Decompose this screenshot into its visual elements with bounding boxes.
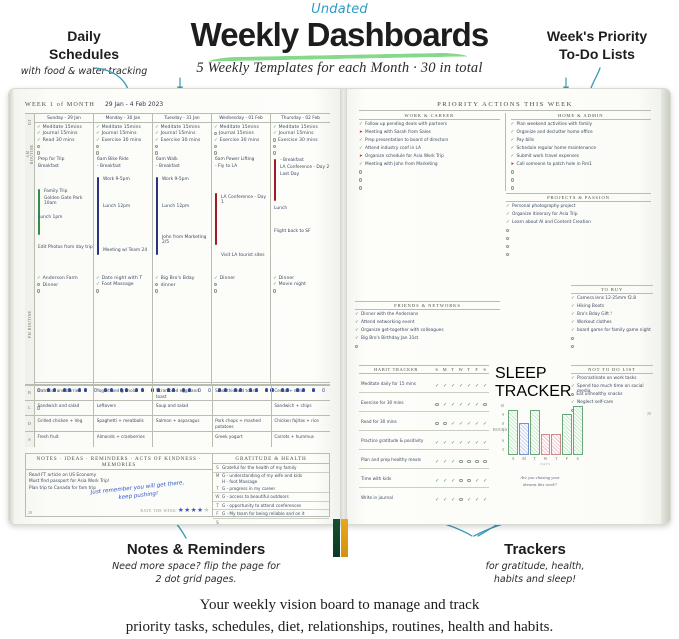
star-rating[interactable]: ★★★★★ [178,507,210,514]
water-tracker-row[interactable] [25,378,330,385]
habit-cell[interactable]: ✓ [449,450,457,468]
callout-priority-line1: Week's Priority [547,28,647,44]
meal-cell[interactable]: Salmon + asparagus [153,416,212,431]
morning-routine-list[interactable]: ✓Meditate 15mins ✓Journal 15mins ✓Read 3… [35,123,93,157]
gratitude-row: TG - progress in my career [213,485,329,494]
event-bar-red [215,193,217,245]
habit-cell[interactable] [473,450,481,468]
event-bar-navy [97,177,99,255]
check-icon: ✓ [451,498,455,503]
schedule-entry: Edit Photos from day trip [38,245,93,250]
habit-cell[interactable]: ✓ [441,374,449,392]
habit-cell[interactable]: ✓ [441,431,449,449]
check-icon: ✓ [214,276,218,280]
table-row: Write in journal ✓ ✓ ✓ ✓ ✓ ✓ [359,488,489,506]
bar-wrapper [519,406,530,455]
habit-cell[interactable] [457,450,465,468]
checkbox[interactable] [96,151,99,154]
meal-cell[interactable]: Soup and salad [153,401,212,416]
bar-wrapper [540,406,551,455]
schedule-entry: LA Conference - Day 1 [221,195,270,205]
checkbox[interactable] [571,345,574,348]
habit-day-header: S [433,366,441,373]
check-icon: ✓ [435,441,439,446]
gratitude-text: H - foot Massage [222,479,329,484]
routine-label: Dinner [220,276,236,283]
gratitude-text: G - understanding of my wife and kids [222,473,329,478]
check-icon: ✓ [96,131,100,135]
week-dates[interactable]: 29 Jan - 4 Feb 2023 [105,101,163,108]
habit-cell[interactable]: ✓ [449,469,457,487]
day-column-sunday[interactable]: Sunday - 29 Jan ✓Meditate 15mins ✓Journa… [35,114,94,384]
meal-cell[interactable]: Sandwich and salad [35,401,94,416]
meal-cell[interactable]: Scrambled eggs and toast [153,386,212,400]
checkbox[interactable] [155,283,158,286]
habit-cell[interactable] [457,469,465,487]
evening-routine-list[interactable]: ✓Dinner [212,275,270,296]
meals-table[interactable]: B Oatmeal and berries Yogurt and granola… [25,385,330,447]
list-item-label: Big Bro's Birthday Jan 31st [361,336,418,341]
meal-cell[interactable]: Chicken fajitas + rice [272,416,330,431]
meal-cell[interactable]: Spaghetti + meatballs [94,416,153,431]
routine-item [214,289,268,295]
checkbox[interactable] [214,151,217,154]
meal-cell[interactable]: Yogurt and granola [94,386,153,400]
x-tick: F [562,457,573,461]
check-icon[interactable]: ✓ [359,138,363,142]
habit-cell[interactable]: ✓ [457,431,465,449]
check-icon: ✓ [443,498,447,503]
checkbox[interactable] [506,245,509,248]
schedule-entry: Lunch [274,206,287,211]
gratitude-text: G - opportunity to attend conferences [222,503,329,508]
evening-routine-list[interactable]: ✓Date night with T ✓Foot Massage [94,275,152,296]
callout-daily-line2: Schedules [49,46,119,62]
routine-label: Read 30 mins [43,138,75,145]
check-icon[interactable]: ✓ [506,212,510,216]
meal-cell[interactable]: Cereal + milk [272,386,330,400]
check-icon: ✓ [443,441,447,446]
check-icon[interactable]: ✓ [506,204,510,208]
habit-tracker[interactable]: HABIT TRACKER S M T W T F S Meditate dai… [359,365,489,506]
check-icon: ✓ [467,441,471,446]
habit-day-header: M [441,366,449,373]
check-icon[interactable]: ✓ [571,296,575,300]
check-icon[interactable]: ✓ [359,162,363,166]
habit-day-header: F [473,366,481,373]
habit-tracker-title: HABIT TRACKER [359,366,433,373]
day-header: Wednesday - 01 Feb [212,114,270,123]
to-buy-section[interactable]: TO BUY ✓Camera lens 12-25mm f2.8 ✓Hiking… [571,285,653,350]
habit-cell[interactable]: ✓ [457,412,465,430]
habit-cell[interactable]: ✓ [481,374,489,392]
habit-cell[interactable]: ✓ [465,431,473,449]
home-admin-column[interactable]: HOME & ADMIN ✓Plan weekend activities wi… [506,113,652,191]
list-item-label: Hiking Boots [577,304,604,309]
checkbox[interactable] [359,170,362,173]
moved-arrow-icon[interactable]: ➤ [511,162,515,166]
gratitude-health-section[interactable]: GRATITUDE & HEALTH SGrateful for the hea… [213,453,330,517]
habit-cell[interactable]: ✓ [473,469,481,487]
check-icon[interactable]: ✓ [355,312,359,316]
check-icon[interactable]: ✓ [571,312,575,316]
sleep-tracker-title: SLEEP TRACKER [495,365,585,401]
day-schedule[interactable]: 6am Power Lifting - Fly to LA LA Confere… [212,157,270,275]
checkbox[interactable] [96,289,99,292]
meal-cell[interactable]: Almonds + cranberries [94,432,153,448]
checkbox [459,460,462,463]
check-icon: ✓ [459,441,463,446]
day-column-wednesday[interactable]: Wednesday - 01 Feb ✓Meditate 15mins Jour… [212,114,271,384]
list-item-label: Camera lens 12-25mm f2.8 [577,296,636,301]
schedule-entry: Lunch 12pm [162,204,189,209]
meal-cell[interactable]: Greek yogurt [213,432,272,448]
check-icon: ✓ [459,384,463,389]
checkbox[interactable] [359,186,362,189]
meal-cell[interactable]: Sandwich + chips [272,401,330,416]
meal-cell[interactable]: Smoothie and toast [213,386,272,400]
morning-routine-list[interactable]: ✓Meditate 15mins ✓Journal 15mins ✓Exerci… [153,123,211,157]
friends-networks-section[interactable]: FRIENDS & NETWORKS ✓Dinner with the Ande… [355,301,500,350]
habit-label: Meditate daily for 15 mins [359,380,433,388]
schedule-entry: 6am Bike Ride [97,157,129,162]
list-item [506,242,651,250]
check-icon: ✓ [483,422,487,427]
checkbox[interactable] [511,178,514,181]
meal-cell[interactable]: Grilled chicken + Veg [35,416,94,431]
check-icon: ✓ [475,498,479,503]
routine-label: Exercise 30 mins [161,138,201,145]
planner-spread: WEEK 1 of MONTH 29 Jan - 4 Feb 2023 DT A… [8,88,671,525]
check-icon: ✓ [96,138,100,142]
check-icon: ✓ [155,125,159,129]
checkbox[interactable] [37,145,40,148]
habit-cell[interactable]: ✓ [481,412,489,430]
table-row: S Fresh fruit Almonds + cranberries Gree… [25,432,330,448]
bar-thursday [551,434,561,455]
checkbox[interactable] [571,337,574,340]
check-icon[interactable]: ✓ [359,122,363,126]
check-icon[interactable]: ✓ [506,220,510,224]
list-item [355,342,500,350]
table-row: Plan and prep healthy meals ✓ ✓ ✓ [359,450,489,469]
checkbox[interactable] [506,253,509,256]
meal-cell[interactable]: Pork chops + mashed potatoes [213,416,272,431]
right-page-number: 29 [647,411,651,416]
day-header: Sunday - 29 Jan [35,114,93,123]
day-grid-gutter: DT AM ROUTINE PM ROUTINE [25,114,35,384]
list-item: ✓Bro's Bday Gift ! [571,310,653,318]
check-icon: ✓ [155,276,159,280]
star-empty-icon[interactable]: ★ [204,507,210,514]
check-icon[interactable]: ✓ [355,320,359,324]
meal-label: S [25,432,35,448]
x-tick: S [508,457,519,461]
check-icon: ✓ [214,125,218,129]
checkbox[interactable] [96,145,99,148]
check-icon: ✓ [467,498,471,503]
habit-cell[interactable]: ✓ [433,374,441,392]
evening-routine-list[interactable]: ✓Big Bro's Bday dinner [153,275,211,296]
check-icon: ✓ [475,441,479,446]
checkbox[interactable] [511,170,514,173]
habit-cell[interactable]: ✓ [457,393,465,411]
routine-item [155,289,209,295]
habit-cell[interactable]: ✓ [481,431,489,449]
check-icon[interactable]: ✓ [355,336,359,340]
sleep-tracker[interactable]: SLEEP TRACKER 10 9 8 7 6 5 HOURS [495,365,585,489]
schedule-entry: - Breakfast [97,164,121,169]
check-icon: ✓ [37,138,41,142]
check-icon[interactable]: ✓ [571,328,575,332]
check-icon: ✓ [435,460,439,465]
habit-cell[interactable] [441,412,449,430]
y-tick: 8 [502,422,504,426]
check-icon[interactable]: ✓ [511,146,515,150]
check-icon[interactable]: ✓ [511,138,515,142]
check-icon: ✓ [443,403,447,408]
checkbox [459,479,462,482]
callout-daily-note: with food & water tracking [14,66,154,78]
check-icon: ✓ [443,479,447,484]
day-initial: F [213,511,222,516]
check-icon: ✓ [435,479,439,484]
bar-wrapper [572,406,583,455]
routine-label: Big Bro's Bday dinner [161,276,209,289]
checkbox[interactable] [355,345,358,348]
check-icon[interactable]: ✓ [571,320,575,324]
checkbox[interactable] [273,145,276,148]
list-item: ✓Organize and declutter home office [511,128,652,136]
checkbox[interactable] [506,229,509,232]
checkbox[interactable] [506,237,509,240]
habit-label: Read for 30 mins [359,418,433,426]
check-icon: ✓ [475,403,479,408]
checkbox[interactable] [214,132,217,135]
day-schedule[interactable]: 6am Bike Ride - Breakfast Work 9-5pm Lun… [94,157,152,275]
habit-cell[interactable]: ✓ [473,488,481,506]
checkbox[interactable] [214,145,217,148]
work-career-title: WORK & CAREER [359,113,500,120]
routine-label: Anderson Farm Dinner [43,276,91,289]
day-column-monday[interactable]: Monday - 30 Jan ✓Meditate 15mins ✓Journa… [94,114,153,384]
day-schedule[interactable]: 6am Walk - Breakfast Work 9-5pm Lunch 12… [153,157,211,275]
habit-cell[interactable]: ✓ [433,450,441,468]
work-career-column[interactable]: WORK & CAREER ✓Follow up pending deals w… [359,113,506,191]
checkbox[interactable] [155,289,158,292]
chart-plot-area [508,406,583,455]
list-item: ✓Schedule regular home maintenance [511,144,652,152]
habit-cell[interactable]: ✓ [441,488,449,506]
checkbox[interactable] [155,151,158,154]
meal-cell[interactable] [153,432,212,448]
checkbox[interactable] [273,138,276,141]
morning-routine-list[interactable]: ✓Meditate 15mins ✓Journal 15mins ✓Exerci… [94,123,152,157]
left-page-number: 28 [28,510,32,515]
week-label: WEEK 1 of MONTH [25,101,95,108]
list-item-label: Follow up pending deals with partners [365,122,447,127]
habit-cell[interactable]: ✓ [457,374,465,392]
gratitude-text: G - My team for being reliable and on it [222,511,329,516]
habit-cell[interactable]: ✓ [465,412,473,430]
list-item-label: Personal photography project [512,204,575,209]
check-icon: ✓ [459,403,463,408]
check-icon: ✓ [443,460,447,465]
moved-arrow-icon[interactable]: ➤ [359,154,363,158]
check-icon: ✓ [37,276,41,280]
day-header: Tuesday - 31 Jan [153,114,211,123]
check-icon: ✓ [273,282,277,286]
habit-cell[interactable]: ✓ [465,488,473,506]
week-header: WEEK 1 of MONTH 29 Jan - 4 Feb 2023 [25,101,330,112]
meal-cell[interactable]: Carrots + hummus [272,432,330,448]
evening-routine-list[interactable]: ✓Anderson Farm Dinner [35,275,93,296]
habit-cell[interactable]: ✓ [433,469,441,487]
projects-passion-section[interactable]: PROJECTS & PASSION ✓Personal photography… [506,193,651,258]
morning-routine-list[interactable]: ✓Meditate 15mins Journal 15mins ✓Exercis… [212,123,270,157]
table-row: Exercise for 30 mins ✓ ✓ ✓ ✓ ✓ [359,393,489,412]
habit-cell[interactable]: ✓ [481,469,489,487]
table-row: Time with kids ✓ ✓ ✓ ✓ ✓ [359,469,489,488]
meal-cell[interactable]: Leftovers [94,401,153,416]
habit-cell[interactable]: ✓ [433,431,441,449]
check-icon[interactable]: ✓ [511,122,515,126]
routine-label: Exercise 30 mins [102,138,142,145]
table-row: Read for 30 mins ✓ ✓ ✓ ✓ ✓ [359,412,489,431]
checkbox[interactable] [155,145,158,148]
habit-cell[interactable]: ✓ [465,374,473,392]
callout-trackers-note: for gratitude, health, habits and sleep! [420,561,650,586]
gratitude-row: MG - understanding of my wife and kids H… [213,473,329,485]
habit-day-header: T [449,366,457,373]
check-icon[interactable]: ✓ [511,130,515,134]
checkbox [459,498,462,501]
habit-cell[interactable]: ✓ [481,488,489,506]
y-tick: 9 [502,413,504,417]
book-page-edge [661,89,670,525]
meal-label: B [25,386,35,400]
day-column-tuesday[interactable]: Tuesday - 31 Jan ✓Meditate 15mins ✓Journ… [153,114,212,384]
list-item: ✓Personal photography project [506,202,651,210]
habit-cell[interactable] [465,469,473,487]
bookmark-ribbon-yellow [341,519,348,557]
callout-notes-note: Need more space? flip the page for 2 dot… [76,561,316,586]
check-icon: ✓ [451,403,455,408]
habit-cell[interactable] [465,450,473,468]
habit-cell[interactable] [433,412,441,430]
habit-cell[interactable] [433,393,441,411]
schedule-entry: John from Marketing 2/5 [162,235,211,245]
habit-cell[interactable] [481,393,489,411]
check-icon: ✓ [37,125,41,129]
habit-label: Write in journal [359,494,433,502]
checkbox[interactable] [214,283,217,286]
habit-label: Plan and prep healthy meals [359,456,433,464]
check-icon[interactable]: ✓ [359,146,363,150]
checkbox[interactable] [214,289,217,292]
moved-arrow-icon[interactable]: ➤ [359,130,363,134]
habit-cell[interactable]: ✓ [473,412,481,430]
checkbox[interactable] [37,289,40,292]
list-item-label: Organize get-together with colleagues [361,328,444,333]
routine-item: ✓Big Bro's Bday dinner [155,276,209,282]
gratitude-row: FG - My team for being reliable and on i… [213,510,329,519]
chart-x-axis: S M T W T F S [508,457,583,461]
check-icon[interactable]: ✓ [571,304,575,308]
notes-section[interactable]: NOTES · IDEAS · REMINDERS · ACTS OF KIND… [25,453,213,517]
meal-cell[interactable] [213,401,272,416]
habit-cell[interactable]: ✓ [473,431,481,449]
checkbox[interactable] [37,283,40,286]
list-item: ✓Follow up pending deals with partners [359,120,500,128]
habit-label: Exercise for 30 mins [359,399,433,407]
gratitude-row: SGrateful for the health of my family [213,464,329,473]
to-buy-title: TO BUY [571,285,653,294]
event-bar-red [274,159,276,201]
check-icon[interactable]: ✓ [511,154,515,158]
chart-y-axis: 10 9 8 7 6 5 HOURS [495,406,508,455]
list-item: ✓Workout clothes [571,318,653,326]
projects-passion-title: PROJECTS & PASSION [506,193,651,202]
bar-tuesday [530,410,540,455]
habit-cell[interactable]: ✓ [449,412,457,430]
routine-item [37,289,91,295]
check-icon: ✓ [214,138,218,142]
gratitude-row: WG - access to beautiful outdoors [213,493,329,502]
meal-cell[interactable]: Oatmeal and berries [35,386,94,400]
checkbox [435,422,438,425]
gratitude-row: S [213,519,329,526]
day-schedule[interactable]: Prep for Trip Breakfast Family Trip Gold… [35,157,93,275]
meal-cell[interactable]: Fresh fruit [35,432,94,448]
habit-cell[interactable]: ✓ [441,469,449,487]
priority-actions-header: PRIORITY ACTIONS THIS WEEK [359,101,651,111]
list-item-label: Attend industry conf in LA [365,146,421,151]
schedule-entry: - Breakfast [280,158,304,163]
habit-cell[interactable]: ✓ [441,393,449,411]
habit-cell[interactable]: ✓ [449,393,457,411]
list-item-label: Dinner with the Andersons [361,312,418,317]
friends-networks-title: FRIENDS & NETWORKS [355,301,500,310]
habit-cell[interactable]: ✓ [465,393,473,411]
checkbox[interactable] [511,186,514,189]
habit-cell[interactable]: ✓ [449,431,457,449]
habit-cell[interactable]: ✓ [449,488,457,506]
list-item [506,250,651,258]
schedule-entry: Family Trip [44,189,67,194]
divider [359,110,651,111]
check-icon: ✓ [467,384,471,389]
habit-cell[interactable]: ✓ [441,450,449,468]
habit-cell[interactable]: ✓ [473,374,481,392]
checkbox[interactable] [273,289,276,292]
checkbox[interactable] [37,151,40,154]
habit-cell[interactable]: ✓ [433,488,441,506]
habit-cell[interactable]: ✓ [449,374,457,392]
habit-cell[interactable]: ✓ [473,393,481,411]
habit-cell[interactable] [457,488,465,506]
checkbox[interactable] [273,151,276,154]
habit-cell[interactable] [481,450,489,468]
check-icon: ✓ [451,422,455,427]
checkbox[interactable] [359,178,362,181]
chart-bars [508,406,583,455]
check-icon[interactable]: ✓ [355,328,359,332]
list-item-label: Meeting with Sarah from Sales [365,130,431,135]
footer-line1: Your weekly vision board to manage and t… [200,597,480,613]
bar-wrapper [551,406,562,455]
rate-the-week[interactable]: RATE THE WEEK ★★★★★ [122,506,210,514]
